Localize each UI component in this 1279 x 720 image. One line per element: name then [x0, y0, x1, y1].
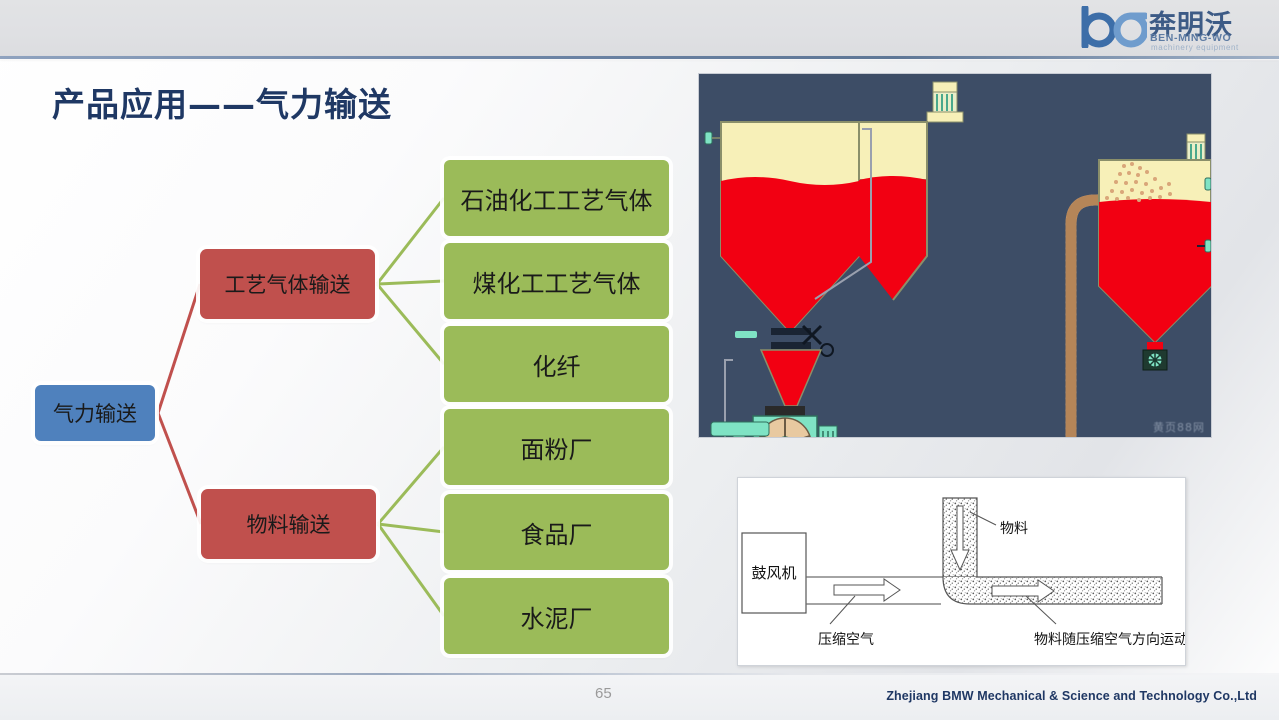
side-port-left [705, 132, 712, 144]
footer-company-name: Zhejiang BMW Mechanical & Science and Te… [886, 689, 1257, 703]
diagram-branch-label-0: 工艺气体输送 [225, 269, 351, 299]
compressed-air-label: 压缩空气 [818, 632, 874, 648]
conveying-principle-svg: 鼓风机 物料 压缩空气 [738, 478, 1185, 665]
diagram-leaf-node-food-factory[interactable]: 食品厂 [444, 494, 669, 570]
page-number: 65 [595, 685, 612, 702]
diagram-branch-node-material[interactable]: 物料输送 [201, 489, 376, 559]
image-watermark: 黄页88网 [1153, 419, 1205, 435]
slide-canvas: 奔明沃 BEN-MING-WO machinery equipment 产品应用… [0, 0, 1279, 720]
sender-material-fill-left [721, 177, 859, 332]
blower-label: 鼓风机 [751, 564, 796, 582]
diagram-root-label: 气力输送 [53, 398, 137, 428]
elbow-fill [943, 577, 970, 604]
diagram-branch-node-process-gas[interactable]: 工艺气体输送 [200, 249, 375, 319]
diagram-branch-label-1: 物料输送 [247, 509, 331, 539]
diagram-leaf-node-petrochemical-gas[interactable]: 石油化工工艺气体 [444, 160, 669, 236]
material-label: 物料 [1000, 521, 1028, 537]
diagram-leaf-node-cement-plant[interactable]: 水泥厂 [444, 578, 669, 654]
vent-cap-right [1187, 134, 1205, 142]
vessel-upper-right-left [859, 122, 927, 180]
pneumatic-conveying-illustration: 黄页88网 [698, 73, 1212, 438]
connector-branch-0-to-leaf-0 [377, 198, 444, 284]
diagram-leaf-node-chemical-fiber[interactable]: 化纤 [444, 326, 669, 402]
connector-branch-1-to-leaf-3 [378, 447, 444, 524]
diagram-leaf-label-0: 石油化工工艺气体 [461, 181, 653, 216]
compressed-air-arrow [834, 579, 900, 601]
feed-hopper-cone [761, 350, 821, 406]
vessel-fill-right-left [859, 176, 927, 300]
diagram-leaf-label-3: 面粉厂 [521, 430, 593, 465]
connector-branch-0-to-leaf-2 [377, 284, 444, 364]
air-compressor [705, 422, 769, 437]
connector-root-to-branch-1 [158, 413, 201, 524]
diagram-leaf-node-flour-mill[interactable]: 面粉厂 [444, 409, 669, 485]
connector-root-to-branch-0 [158, 284, 200, 413]
connector-branch-1-to-leaf-4 [378, 524, 444, 532]
side-port-right-lower [1205, 240, 1211, 252]
diagram-root-node[interactable]: 气力输送 [35, 385, 155, 441]
side-port-right-upper [1205, 178, 1211, 190]
pneumatic-conveying-svg [699, 74, 1211, 437]
receiver-outlet-neck [1147, 342, 1163, 350]
valve-actuator-port [735, 331, 757, 338]
receiver-discharge-valve [1143, 350, 1167, 370]
feeder-inlet-flange [765, 406, 805, 416]
logo-tagline: machinery equipment [1151, 43, 1239, 52]
material-flow-label: 物料随压缩空气方向运动 [1034, 632, 1185, 648]
diagram-leaf-label-1: 煤化工工艺气体 [473, 264, 641, 299]
vessel-neck-left [927, 112, 963, 122]
diagram-leaf-label-4: 食品厂 [521, 515, 593, 550]
diagram-leaf-node-coal-chemical-gas[interactable]: 煤化工工艺气体 [444, 243, 669, 319]
logo-bo-mark [1081, 6, 1147, 48]
diagram-leaf-label-5: 水泥厂 [521, 599, 593, 634]
receiver-material-fill-right [1099, 199, 1211, 342]
diagram-leaf-label-2: 化纤 [533, 347, 581, 382]
leader-compressed-air [830, 596, 855, 624]
company-logo: 奔明沃 BEN-MING-WO machinery equipment [1081, 2, 1271, 54]
conveying-principle-schematic: 鼓风机 物料 压缩空气 [737, 477, 1186, 666]
connector-branch-1-to-leaf-5 [378, 524, 444, 616]
connector-branch-0-to-leaf-1 [377, 281, 444, 284]
vent-cap-left [933, 82, 957, 92]
